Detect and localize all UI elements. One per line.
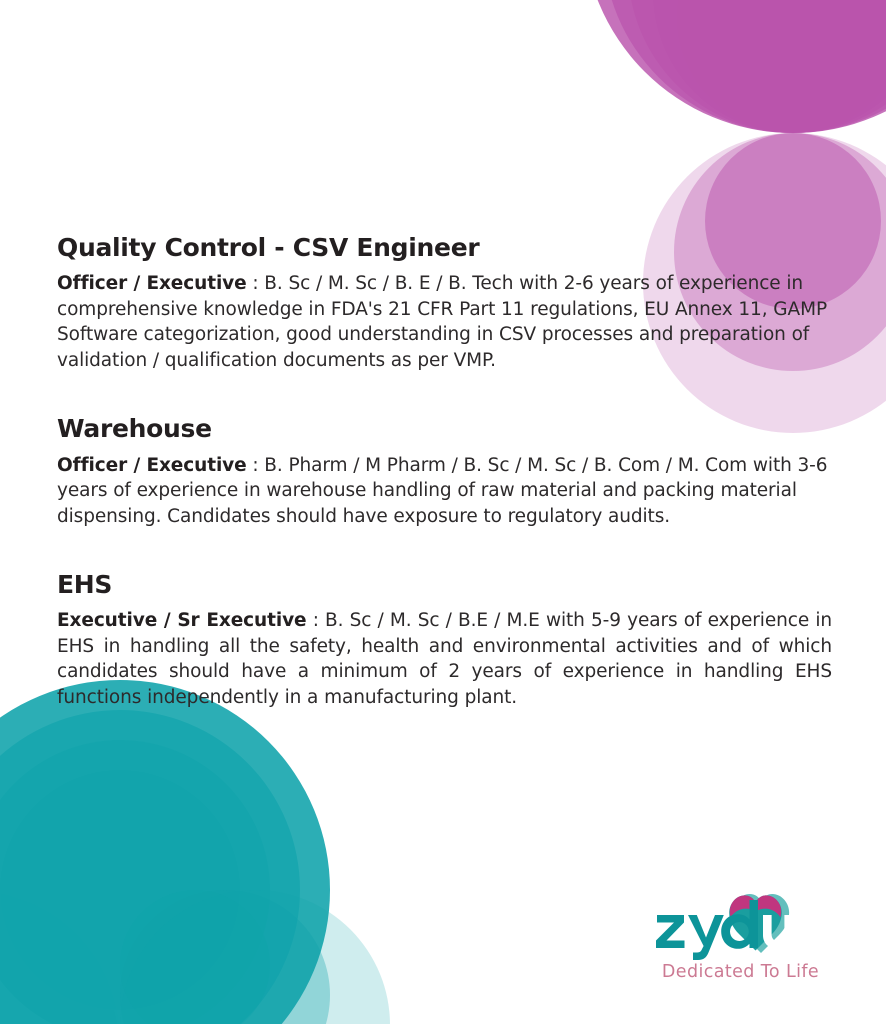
purple-circle-5 xyxy=(677,0,886,133)
purple-circle-1 xyxy=(583,0,886,133)
job-role-label: Executive / Sr Executive xyxy=(57,610,307,631)
job-description: Executive / Sr Executive : B. Sc / M. Sc… xyxy=(57,608,832,710)
teal-circle-4 xyxy=(0,770,240,1010)
purple-circle-2 xyxy=(603,0,886,133)
zydus-logo-mark xyxy=(653,892,828,964)
zydus-logo: Dedicated To Life xyxy=(653,892,828,982)
job-title: EHS xyxy=(57,569,832,600)
job-separator: : xyxy=(247,455,265,476)
teal-circle-8 xyxy=(120,890,330,1024)
job-separator: : xyxy=(307,610,326,631)
job-title: Warehouse xyxy=(57,413,832,444)
zydus-tagline: Dedicated To Life xyxy=(653,962,828,982)
job-description: Officer / Executive : B. Sc / M. Sc / B.… xyxy=(57,271,832,373)
job-role-label: Officer / Executive xyxy=(57,455,247,476)
job-section-ehs: EHS Executive / Sr Executive : B. Sc / M… xyxy=(57,569,832,710)
job-section-warehouse: Warehouse Officer / Executive : B. Pharm… xyxy=(57,413,832,529)
teal-circle-3 xyxy=(0,740,270,1024)
job-posting-graphic: { "page": { "background_color": "#ffffff… xyxy=(0,0,886,1024)
teal-circle-1 xyxy=(0,680,330,1024)
job-section-quality-control: Quality Control - CSV Engineer Officer /… xyxy=(57,232,832,373)
teal-circle-9 xyxy=(120,890,270,1024)
teal-circle-2 xyxy=(0,710,300,1024)
job-description: Officer / Executive : B. Pharm / M Pharm… xyxy=(57,453,832,530)
job-role-label: Officer / Executive xyxy=(57,273,247,294)
teal-circle-10 xyxy=(0,890,120,1024)
job-separator: : xyxy=(247,273,265,294)
job-listings: Quality Control - CSV Engineer Officer /… xyxy=(57,232,832,710)
purple-circle-3 xyxy=(628,0,886,133)
teal-circle-6 xyxy=(0,890,120,1024)
teal-circle-7 xyxy=(120,890,390,1024)
job-title: Quality Control - CSV Engineer xyxy=(57,232,832,263)
purple-circle-4 xyxy=(653,0,886,133)
teal-circle-5 xyxy=(27,797,213,983)
